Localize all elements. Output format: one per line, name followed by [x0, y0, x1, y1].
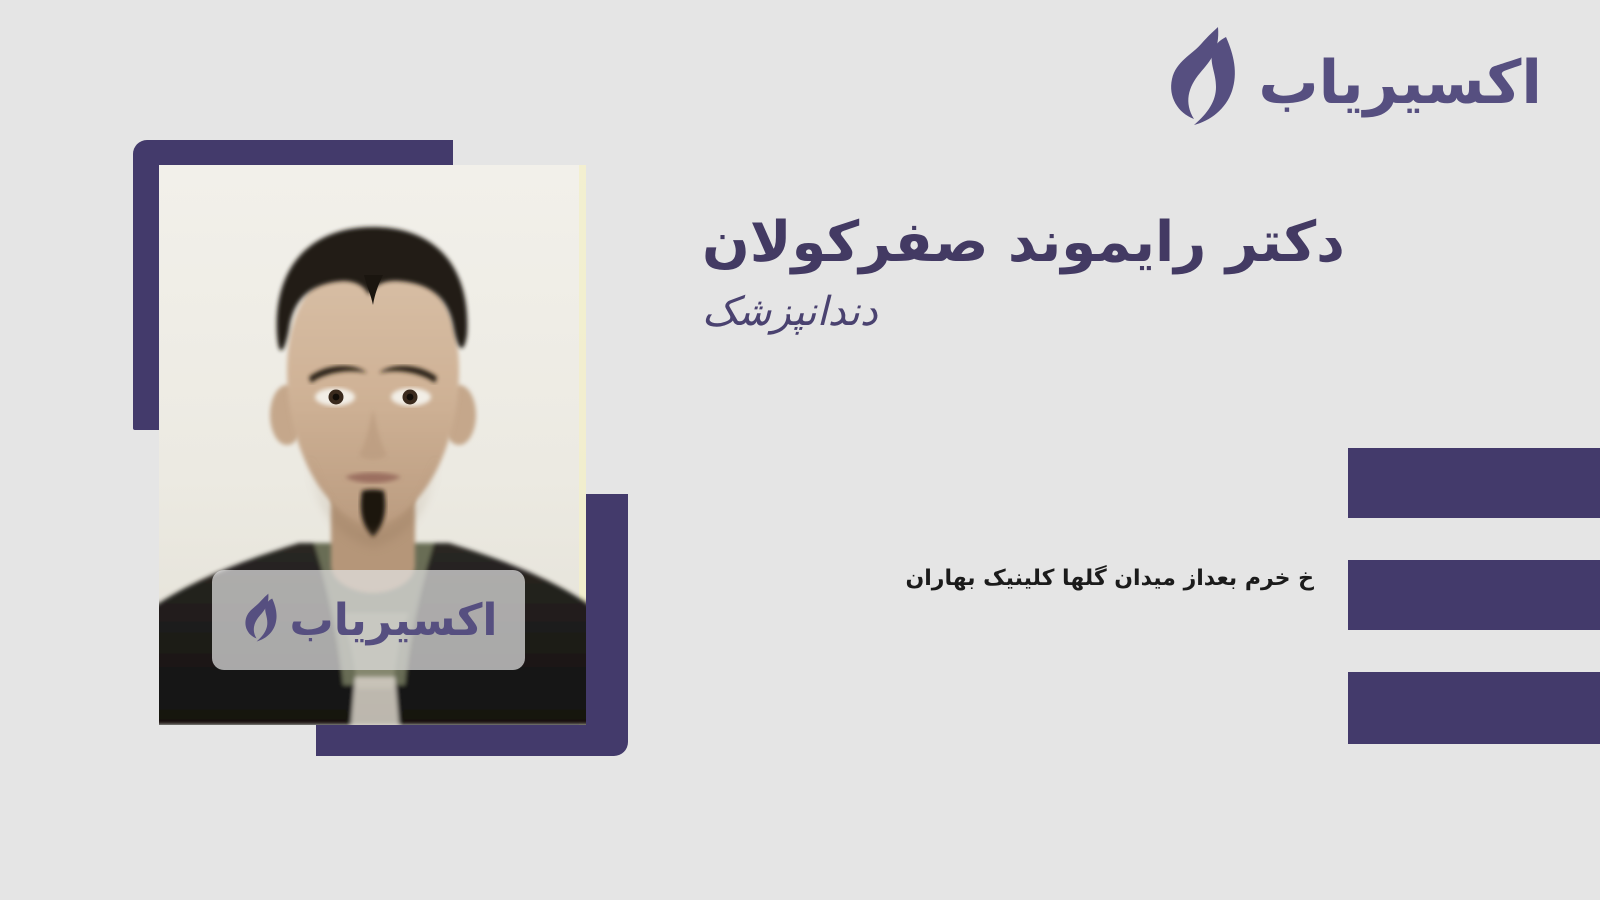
doctor-specialty: دندانپزشک [702, 286, 1522, 338]
watermark-brand-name: اکسیریاب [289, 599, 497, 643]
flame-drop-icon [1158, 25, 1244, 129]
profile-card: اکسیریاب [0, 0, 1600, 900]
decor-bars [1348, 448, 1600, 744]
clinic-address: خ خرم بعداز میدان گلها کلینیک بهاران [905, 562, 1314, 595]
brand-logo[interactable]: اکسیریاب [1158, 22, 1542, 132]
doctor-photo-block: اکسیریاب [133, 140, 633, 760]
decor-bar-2 [1348, 560, 1600, 630]
doctor-info: دکتر رایموند صفرکولان دندانپزشک [702, 208, 1522, 338]
decor-bar-3 [1348, 672, 1600, 744]
flame-drop-icon [239, 592, 281, 644]
brand-name: اکسیریاب [1258, 53, 1542, 113]
photo-watermark: اکسیریاب [212, 570, 525, 670]
doctor-photo[interactable]: اکسیریاب [159, 165, 586, 725]
decor-bar-1 [1348, 448, 1600, 518]
doctor-name: دکتر رایموند صفرکولان [702, 208, 1522, 278]
